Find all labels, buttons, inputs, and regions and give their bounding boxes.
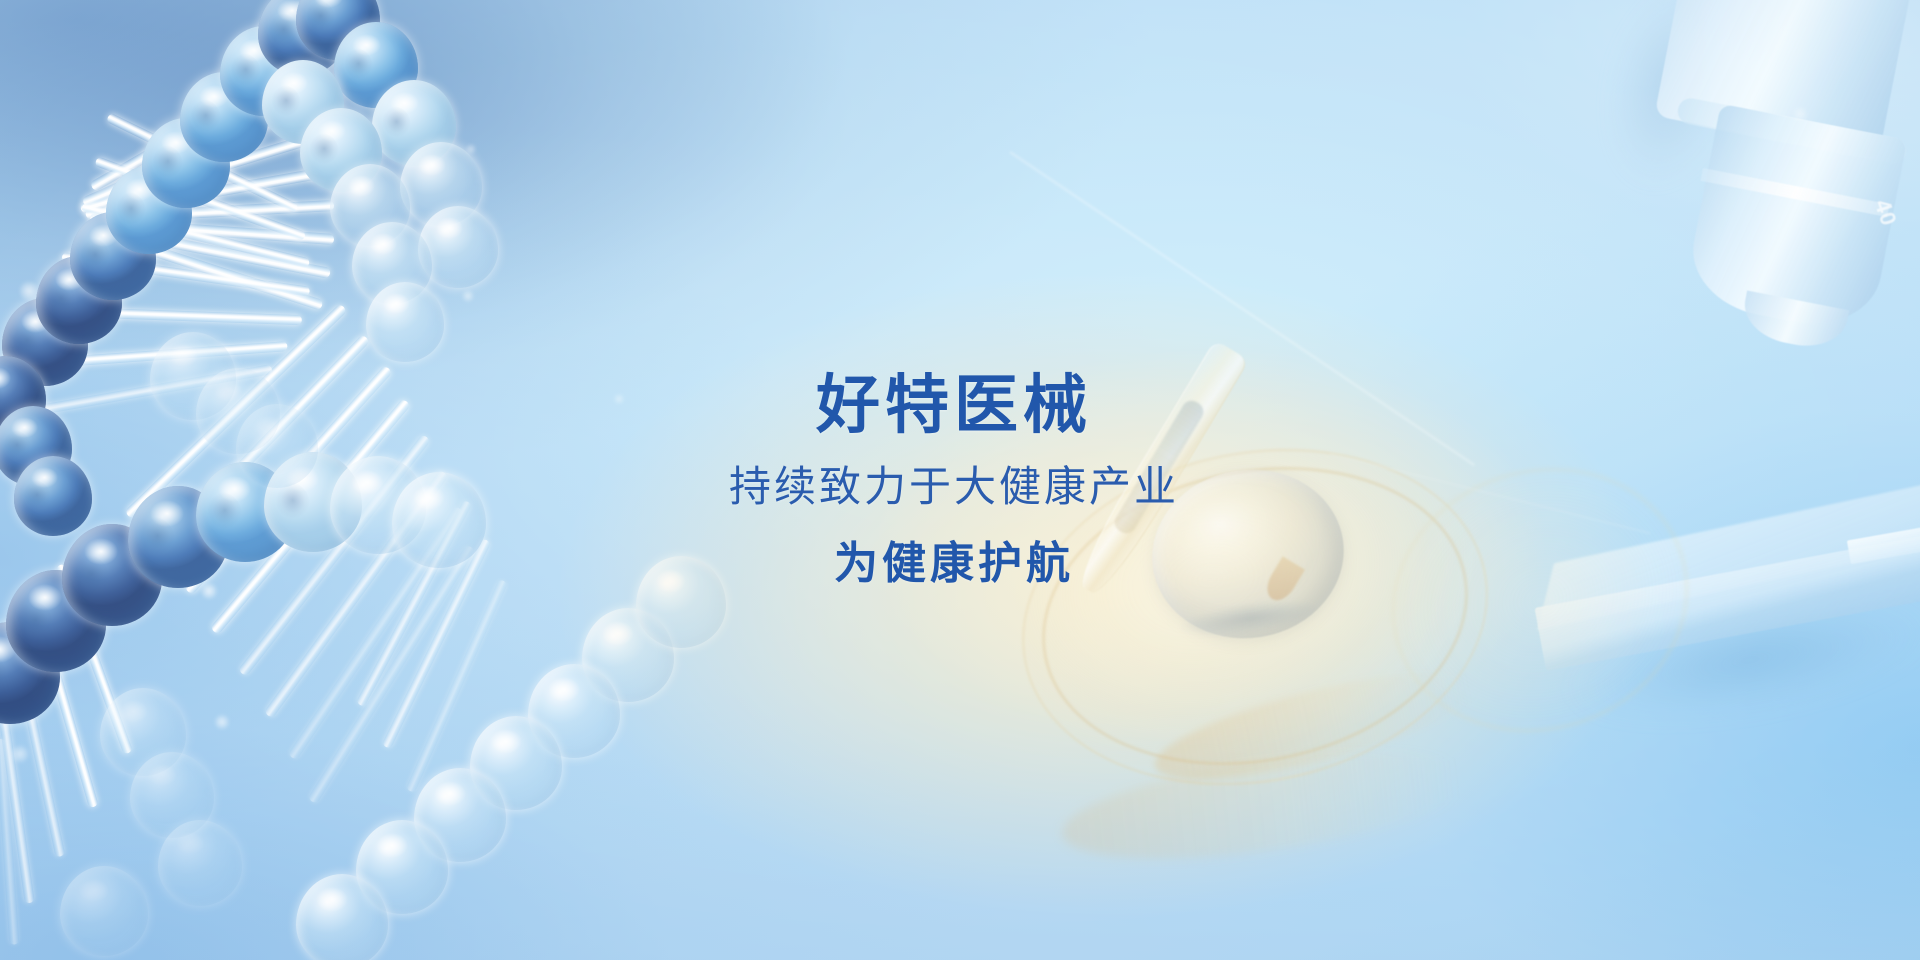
bokeh-dot <box>212 712 232 732</box>
bokeh-dot <box>612 392 626 406</box>
bokeh-dot <box>198 580 220 602</box>
hero-banner: 40 好特医械 持续致力于大健康产业 为健康护航 <box>0 0 1920 960</box>
bokeh-dot <box>1790 104 1810 124</box>
bokeh-dot <box>460 288 476 304</box>
bokeh-dot <box>464 142 478 156</box>
hero-subtitle-secondary: 为健康护航 <box>729 540 1179 588</box>
bokeh-dot <box>8 742 32 766</box>
page-title: 好特医械 <box>729 371 1179 440</box>
hero-subtitle-primary: 持续致力于大健康产业 <box>729 464 1179 510</box>
bokeh-dot <box>16 278 42 304</box>
